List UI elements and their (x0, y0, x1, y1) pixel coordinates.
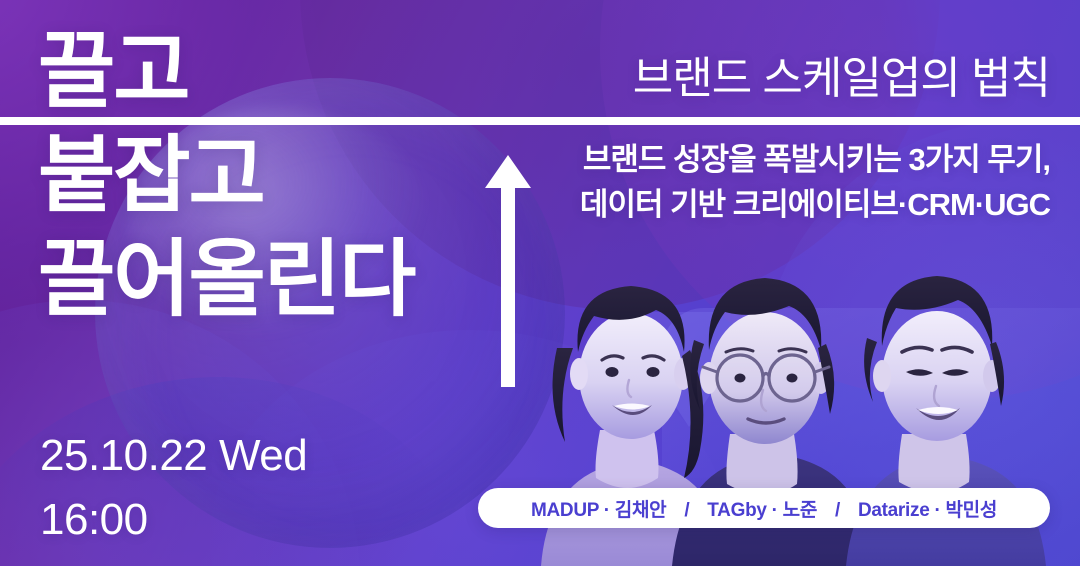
speaker-2-label: TAGby · 노준 (707, 500, 817, 521)
page-title: 브랜드 스케일업의 법칙 (633, 42, 1050, 106)
event-time: 16:00 (40, 488, 307, 552)
speaker-backdrop-chevron (614, 312, 764, 462)
speaker-1-label: MADUP · 김채안 (531, 500, 666, 521)
page-subtitle: 브랜드 성장을 폭발시키는 3가지 무기, 데이터 기반 크리에이티브·CRM·… (580, 138, 1050, 228)
headline-line-3: 끌어올린다 (38, 232, 538, 326)
speaker-separator-2: / (822, 500, 853, 521)
arrow-up-icon (484, 155, 532, 387)
event-poster: 끌고 붙잡고 끌어올린다 25.10.22 Wed 16:00 브랜드 스케일업… (0, 0, 1080, 566)
headline-line-2: 붙잡고 (38, 128, 538, 222)
speaker-3-label: Datarize · 박민성 (858, 500, 997, 521)
speaker-separator-1: / (671, 500, 702, 521)
subtitle-line-1: 브랜드 성장을 폭발시키는 3가지 무기, (580, 138, 1050, 183)
headline-line-1: 끌고 (38, 24, 538, 118)
subtitle-line-2: 데이터 기반 크리에이티브·CRM·UGC (580, 183, 1050, 228)
event-datetime: 25.10.22 Wed 16:00 (40, 424, 307, 552)
speaker-badge-text: MADUP · 김채안 / TAGby · 노준 / Datarize · 박민… (531, 495, 997, 522)
speaker-backdrop-panel (662, 308, 1080, 518)
event-date: 25.10.22 Wed (40, 424, 307, 488)
headline: 끌고 붙잡고 끌어올린다 (38, 24, 538, 326)
speaker-badge: MADUP · 김채안 / TAGby · 노준 / Datarize · 박민… (478, 488, 1050, 528)
